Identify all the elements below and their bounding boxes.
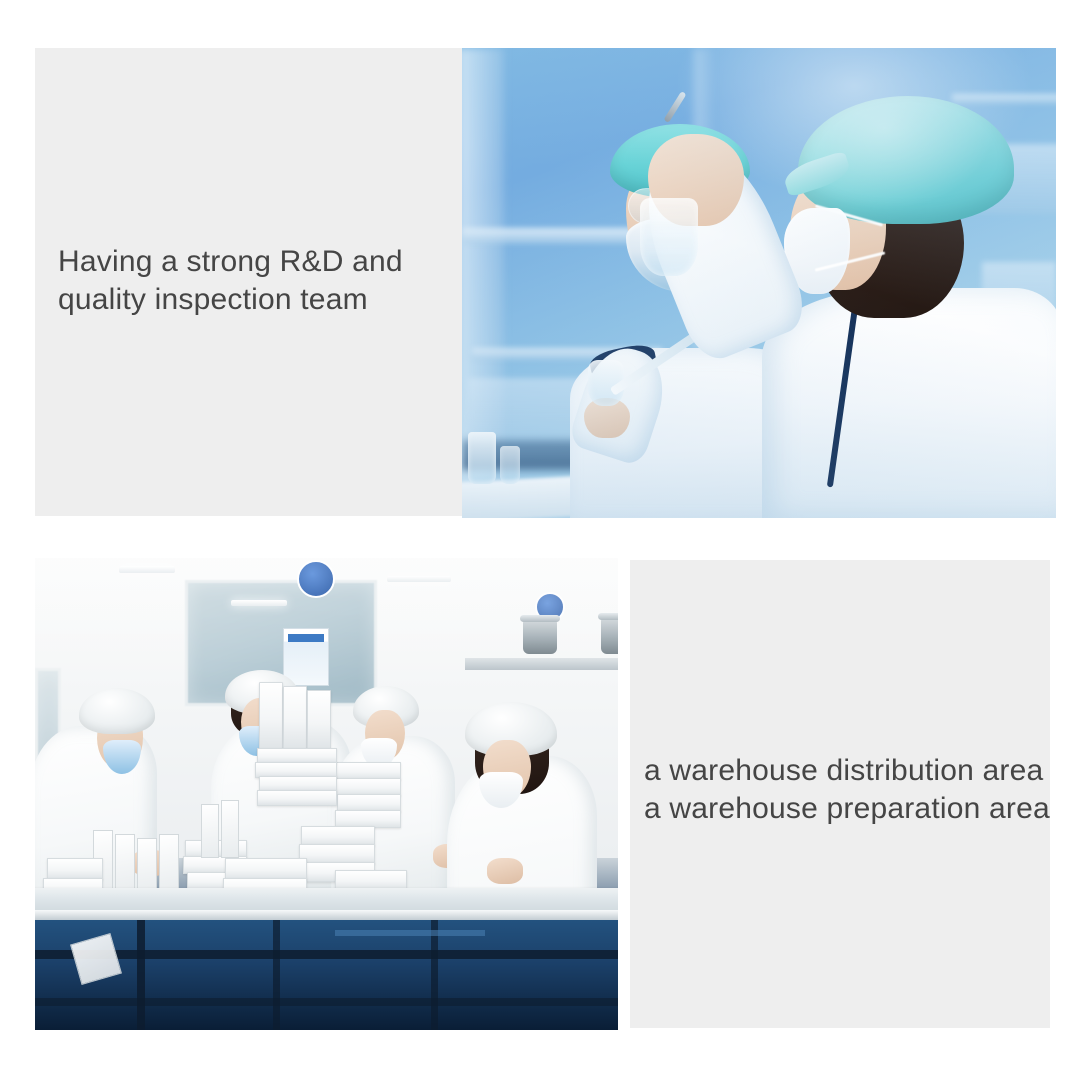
warehouse-base-highlight	[335, 930, 485, 936]
warehouse-poster	[283, 628, 329, 686]
warehouse-carton-mid-5	[299, 844, 375, 864]
warehouse-carton-front-3	[137, 838, 157, 894]
warehouse-poster-band	[288, 634, 324, 642]
warehouse-carton-front-6	[221, 800, 239, 858]
warehouse-base-post-2	[273, 920, 280, 1030]
bottom-caption: a warehouse distribution area a warehous…	[644, 752, 1044, 829]
lab-flask-right	[640, 198, 698, 276]
warehouse-carton-front-4	[159, 834, 179, 894]
warehouse-base-rail-2	[35, 998, 618, 1006]
warehouse-base-rail-1	[35, 950, 618, 959]
warehouse-pot-1	[523, 620, 557, 654]
warehouse-blue-sign-icon	[297, 560, 335, 598]
warehouse-worker-1-hairnet	[79, 688, 155, 734]
warehouse-carton-mid-4	[301, 826, 375, 846]
warehouse-carton-fg-1	[47, 858, 103, 880]
warehouse-carton-front-2	[115, 834, 135, 894]
warehouse-carton-tall-2	[283, 686, 307, 750]
warehouse-carton-tall-3	[307, 690, 331, 750]
warehouse-carton-fg-3	[225, 858, 307, 880]
lab-beaker-2	[500, 446, 520, 484]
top-caption-line-1: Having a strong R&D and	[58, 243, 458, 281]
warehouse-carton-tall-1	[259, 682, 283, 750]
top-caption: Having a strong R&D and quality inspecti…	[58, 243, 458, 320]
lab-beaker-1	[468, 432, 496, 484]
banner-page: Having a strong R&D and quality inspecti…	[0, 0, 1080, 1080]
bottom-caption-line-1: a warehouse distribution area	[644, 752, 1044, 790]
bottom-caption-line-2: a warehouse preparation area	[644, 790, 1044, 828]
warehouse-carton-flat-4	[257, 790, 337, 806]
warehouse-ceiling-light-3	[387, 576, 451, 582]
warehouse-ceiling-light-1	[119, 566, 175, 573]
lab-bg-shelf-top	[952, 94, 1056, 104]
warehouse-base-post-3	[431, 920, 438, 1030]
warehouse-carton-fg-5	[335, 870, 407, 890]
warehouse-packing-photo	[35, 558, 618, 1030]
top-caption-line-2: quality inspection team	[58, 281, 458, 319]
warehouse-pot-2	[601, 618, 618, 654]
warehouse-carton-front-5	[201, 804, 219, 858]
lab-tweezers	[663, 91, 686, 123]
warehouse-base-post-1	[137, 920, 145, 1030]
warehouse-table-base	[35, 920, 618, 1030]
warehouse-back-counter	[465, 658, 618, 670]
lab-worker-right-coat	[762, 288, 1056, 518]
warehouse-ceiling-light-2	[231, 600, 287, 606]
lab-quality-inspection-photo	[462, 48, 1056, 518]
warehouse-worker-4-hand	[487, 858, 523, 884]
